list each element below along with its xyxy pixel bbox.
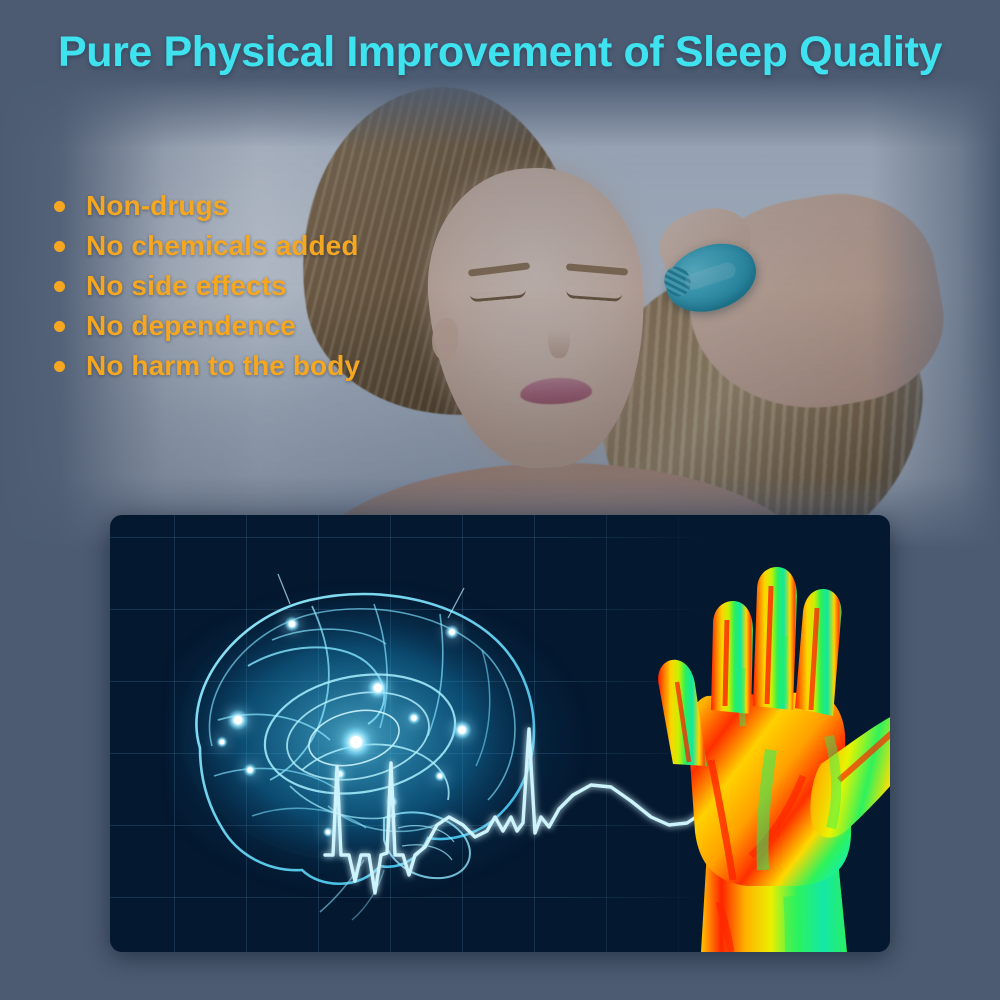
tech-illustration-panel <box>110 515 890 952</box>
list-item: No dependence <box>54 306 360 346</box>
benefit-label: No dependence <box>86 310 296 342</box>
benefit-label: No harm to the body <box>86 350 360 382</box>
benefits-list: Non-drugs No chemicals added No side eff… <box>54 186 360 386</box>
list-item: No side effects <box>54 266 360 306</box>
page-title: Pure Physical Improvement of Sleep Quali… <box>0 28 1000 77</box>
bullet-dot-icon <box>54 281 65 292</box>
bullet-dot-icon <box>54 241 65 252</box>
bullet-dot-icon <box>54 361 65 372</box>
benefit-label: No chemicals added <box>86 230 359 262</box>
bullet-dot-icon <box>54 321 65 332</box>
benefit-label: Non-drugs <box>86 190 228 222</box>
thermal-hand-icon <box>615 550 890 952</box>
poster-root: Pure Physical Improvement of Sleep Quali… <box>0 0 1000 1000</box>
list-item: No harm to the body <box>54 346 360 386</box>
benefit-label: No side effects <box>86 270 287 302</box>
bullet-dot-icon <box>54 201 65 212</box>
list-item: Non-drugs <box>54 186 360 226</box>
list-item: No chemicals added <box>54 226 360 266</box>
